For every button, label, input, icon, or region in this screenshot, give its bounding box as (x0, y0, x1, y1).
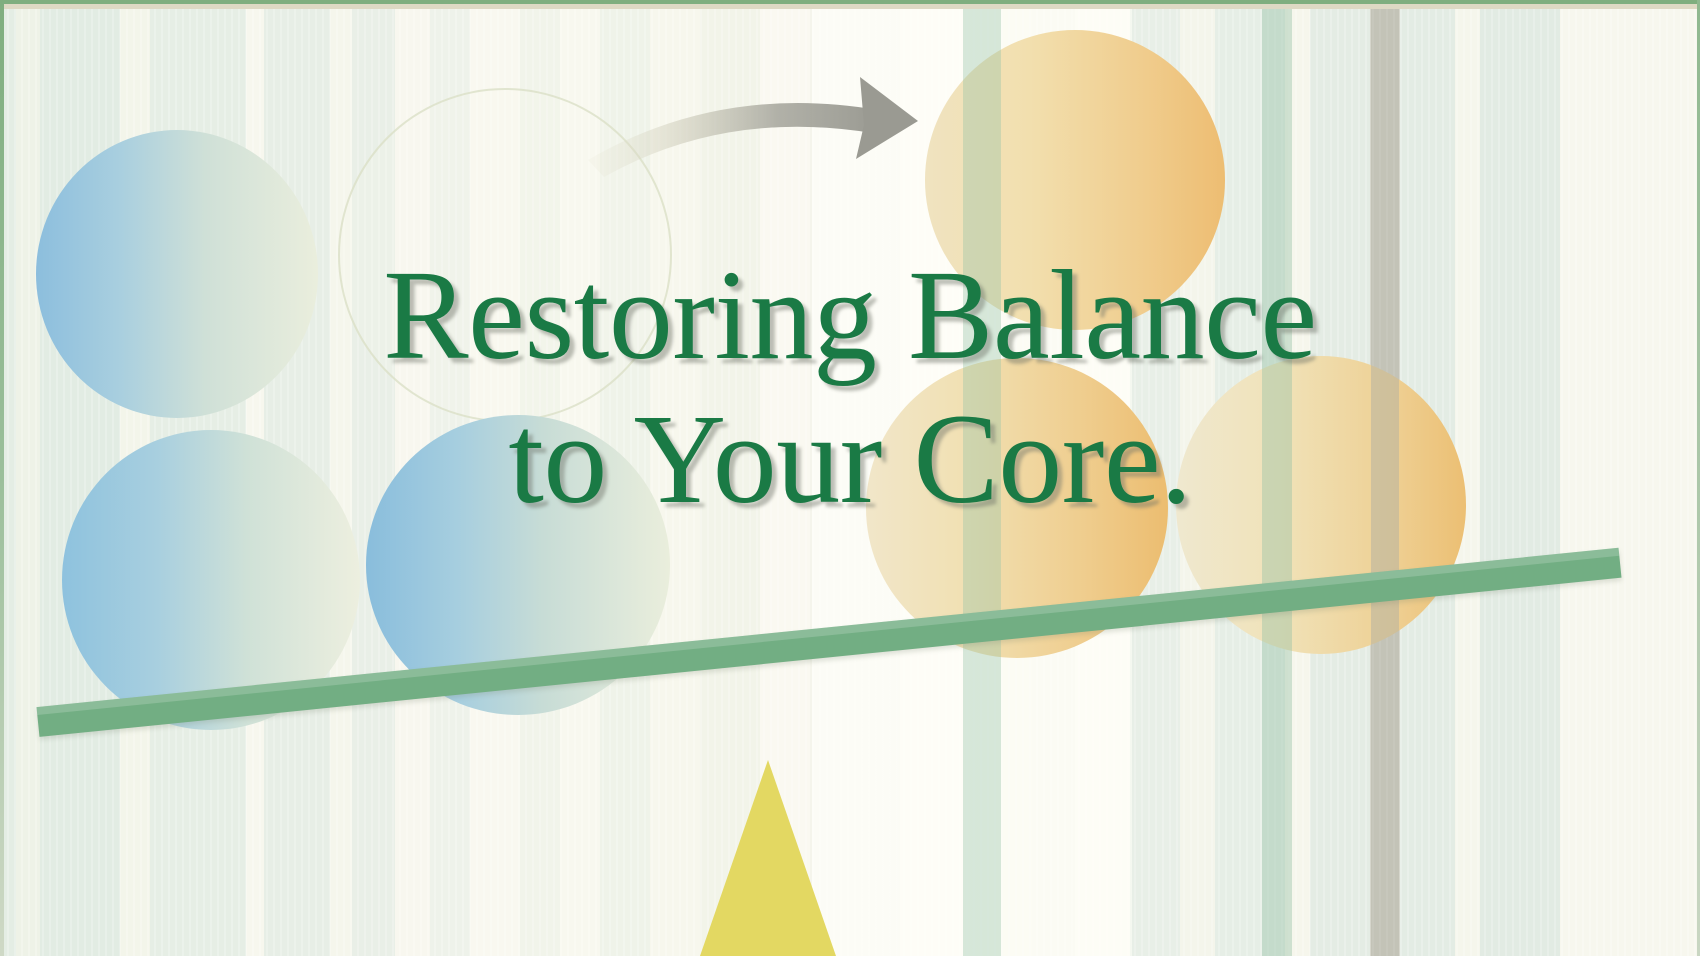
frame-border-top-2 (0, 4, 1700, 9)
title-line-1: Restoring Balance (0, 232, 1700, 398)
frame-border-left (0, 0, 4, 956)
title-line-2: to Your Core. (0, 376, 1700, 542)
triangle-fulcrum (700, 760, 836, 956)
slide-canvas: Restoring Balance to Your Core. (0, 0, 1700, 956)
page-title: Restoring Balance to Your Core. (0, 232, 1700, 543)
curved-right-arrow (560, 55, 960, 205)
